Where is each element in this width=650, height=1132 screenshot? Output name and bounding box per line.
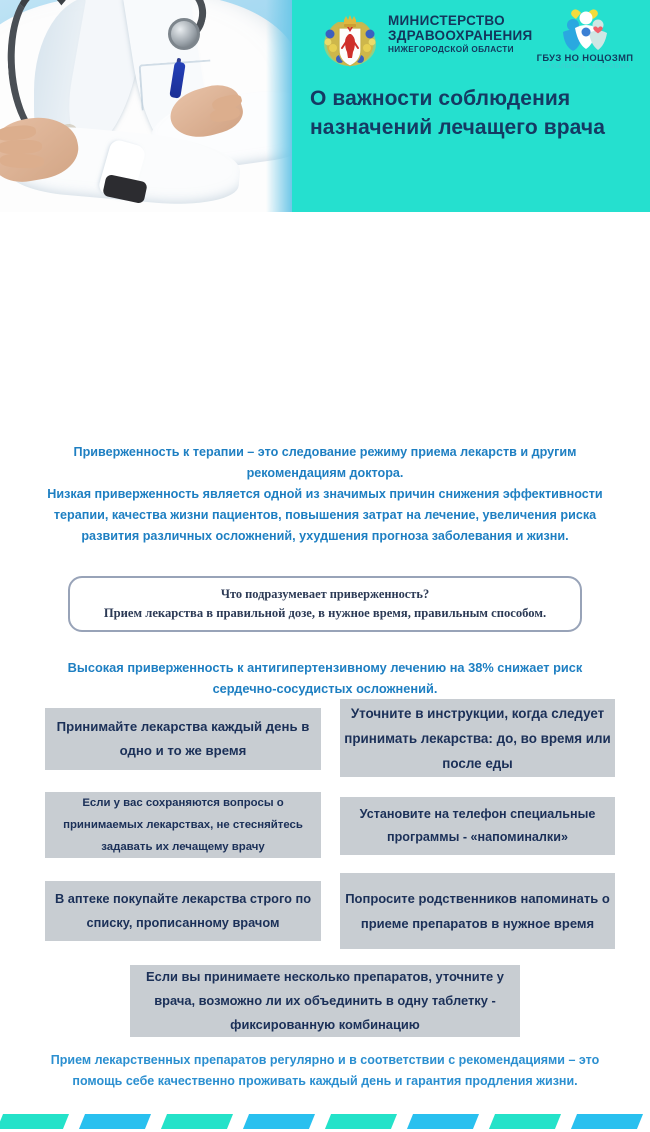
tip-text: Если у вас сохраняются вопросы о принима…	[45, 792, 321, 858]
tip-card-combine: Если вы принимаете несколько препаратов,…	[130, 965, 520, 1037]
poster-header: МИНИСТЕРСТВО ЗДРАВООХРАНЕНИЯ НИЖЕГОРОДСК…	[0, 0, 650, 212]
tip-text: Установите на телефон специальные програ…	[340, 803, 615, 849]
intro-paragraph-1: Приверженность к терапии – это следовани…	[55, 442, 595, 484]
tip-card-phone-reminder: Установите на телефон специальные програ…	[340, 797, 615, 855]
tip-card-relatives: Попросите родственников напоминать о при…	[340, 873, 615, 949]
gbuz-logo-block: ГБУЗ НО НОЦОЗМП ПОКОЛЕНИЕ ЗДОРОВЬЯ	[525, 8, 645, 78]
generation-health-icon	[557, 8, 615, 52]
definition-answer: Прием лекарства в правильной дозе, в нуж…	[104, 604, 546, 623]
footer-parallelogram	[489, 1114, 561, 1129]
finger	[0, 153, 44, 169]
tip-card-pharmacy-list: В аптеке покупайте лекарства строго по с…	[45, 881, 321, 941]
footer-decorative-strip	[0, 1110, 650, 1132]
outro-text: Прием лекарственных препаратов регулярно…	[38, 1050, 612, 1092]
page-title: О важности соблюдения назначений лечащег…	[310, 84, 650, 142]
intro-paragraph-2: Низкая приверженность является одной из …	[38, 484, 612, 547]
footer-parallelogram	[243, 1114, 315, 1129]
footer-parallelogram	[325, 1114, 397, 1129]
ministry-line-3: НИЖЕГОРОДСКОЙ ОБЛАСТИ	[388, 44, 533, 55]
definition-question: Что подразумевает приверженность?	[221, 585, 429, 604]
footer-parallelogram	[79, 1114, 151, 1129]
stethoscope-chestpiece	[168, 18, 200, 50]
tip-text: Уточните в инструкции, когда следует при…	[340, 701, 615, 776]
ministry-line-1: МИНИСТЕРСТВО	[388, 14, 533, 28]
tip-text: Если вы принимаете несколько препаратов,…	[130, 965, 520, 1037]
footer-parallelogram	[571, 1114, 643, 1129]
tip-card-same-time: Принимайте лекарства каждый день в одно …	[45, 708, 321, 770]
ministry-wordmark: МИНИСТЕРСТВО ЗДРАВООХРАНЕНИЯ НИЖЕГОРОДСК…	[388, 14, 533, 55]
footer-parallelogram	[407, 1114, 479, 1129]
gbuz-tagline: ПОКОЛЕНИЕ ЗДОРОВЬЯ	[525, 63, 645, 70]
footer-parallelogram	[0, 1114, 69, 1129]
gbuz-name: ГБУЗ НО НОЦОЗМП	[525, 52, 645, 63]
doctor-photo	[0, 0, 292, 212]
statistic-text: Высокая приверженность к антигипертензив…	[38, 657, 612, 699]
tip-text: В аптеке покупайте лекарства строго по с…	[45, 887, 321, 935]
teal-header-panel: МИНИСТЕРСТВО ЗДРАВООХРАНЕНИЯ НИЖЕГОРОДСК…	[292, 0, 650, 212]
definition-box: Что подразумевает приверженность? Прием …	[68, 576, 582, 632]
tip-text: Попросите родственников напоминать о при…	[340, 886, 615, 936]
tip-card-ask-doctor: Если у вас сохраняются вопросы о принима…	[45, 792, 321, 858]
tip-text: Принимайте лекарства каждый день в одно …	[45, 715, 321, 763]
tip-card-instruction: Уточните в инструкции, когда следует при…	[340, 699, 615, 777]
photo-edge-fade	[266, 0, 292, 212]
footer-parallelogram	[161, 1114, 233, 1129]
coat-of-arms-icon	[320, 10, 380, 68]
logo-row: МИНИСТЕРСТВО ЗДРАВООХРАНЕНИЯ НИЖЕГОРОДСК…	[292, 8, 650, 72]
ministry-line-2: ЗДРАВООХРАНЕНИЯ	[388, 28, 533, 43]
